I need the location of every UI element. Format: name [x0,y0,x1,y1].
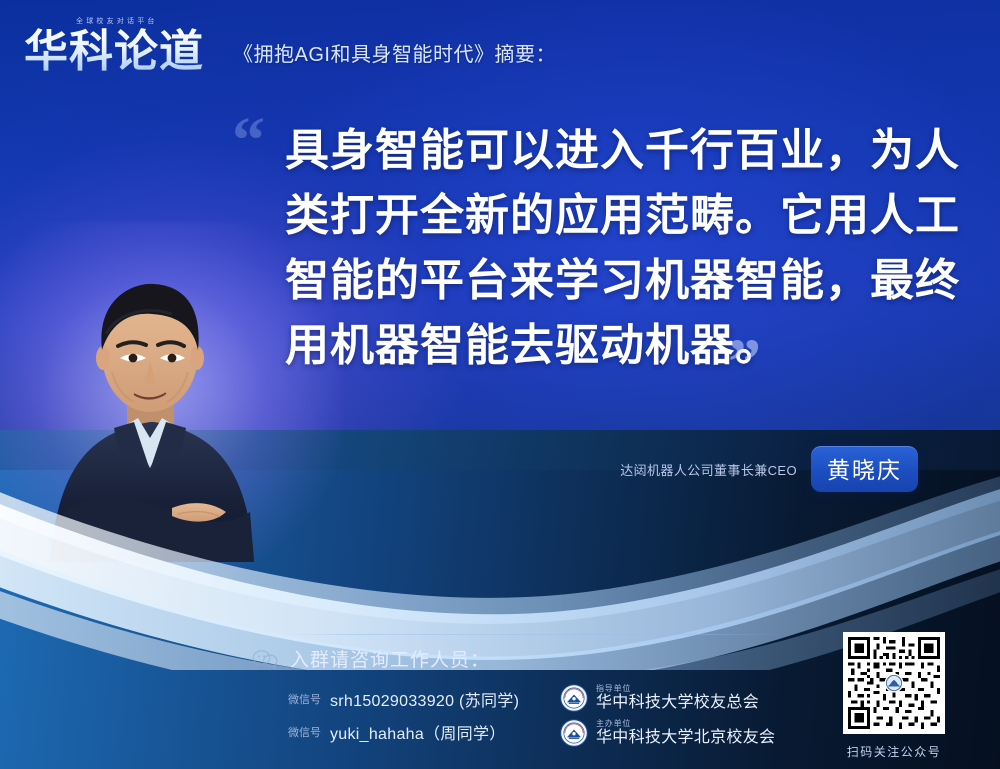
quote-open-mark: “ [232,108,265,174]
organizer-row: 指导单位 华中科技大学校友总会 [560,680,775,715]
wechat-label: 微信号 [288,724,321,740]
footer-title: 入群请咨询工作人员： [290,645,490,672]
qr-caption: 扫码关注公众号 [838,743,950,760]
wechat-id: yuki_hahaha（周同学） [330,720,506,744]
speaker-role: 达闼机器人公司董事长兼CEO [620,460,797,479]
hust-emblem-icon [560,719,588,747]
wechat-icon [252,649,278,669]
wechat-id: srh15029033920 (苏同学) [330,687,519,711]
qr-code-image[interactable] [843,632,945,734]
qr-code-block: 扫码关注公众号 [838,632,950,760]
hust-emblem-icon [560,684,588,712]
svg-text:华科论道: 华科论道 [24,26,204,76]
organizer-text: 主办单位 华中科技大学北京校友会 [596,720,775,746]
organizer-name: 华中科技大学校友总会 [596,695,759,711]
quote-close-mark: ” [728,330,761,396]
footer-contact-section: 入群请咨询工作人员： 微信号 srh15029033920 (苏同学) 微信号 … [252,645,812,748]
logo-mark-icon: 华科论道 [24,24,219,76]
quote-text-block: 具身智能可以进入千行百业，为人 类打开全新的应用范畴。它用人工 智能的平台来学习… [285,118,945,378]
brand-logo: 全球校友对话平台 华科论道 [24,14,219,76]
organizer-list: 指导单位 华中科技大学校友总会 主办单位 华中科 [560,680,775,750]
quote-line: 用机器智能去驱动机器。 [285,313,945,378]
organizer-name: 华中科技大学北京校友会 [596,730,775,746]
quote-line: 智能的平台来学习机器智能，最终 [285,248,945,313]
quote-line: 具身智能可以进入千行百业，为人 [285,118,945,183]
contact-rows: 微信号 srh15029033920 (苏同学) 微信号 yuki_hahaha… [252,682,812,748]
poster-header: 全球校友对话平台 华科论道 《拥抱AGI和具身智能时代》摘要： [24,14,556,76]
quote-line: 类打开全新的应用范畴。它用人工 [285,183,945,248]
footer-divider [288,634,788,635]
organizer-kind: 主办单位 [596,720,775,728]
wechat-label: 微信号 [288,691,321,707]
qr-code-icon [848,637,940,729]
organizer-row: 主办单位 华中科技大学北京校友会 [560,715,775,750]
organizer-kind: 指导单位 [596,685,759,693]
poster-canvas: 全球校友对话平台 华科论道 《拥抱AGI和具身智能时代》摘要： “ 具身智能可以… [0,0,1000,769]
speaker-name-badge: 黄晓庆 [811,446,918,492]
footer-heading-row: 入群请咨询工作人员： [252,645,812,672]
page-title: 《拥抱AGI和具身智能时代》摘要： [233,38,556,76]
speaker-attribution: 达闼机器人公司董事长兼CEO 黄晓庆 [620,446,918,492]
organizer-text: 指导单位 华中科技大学校友总会 [596,685,759,711]
